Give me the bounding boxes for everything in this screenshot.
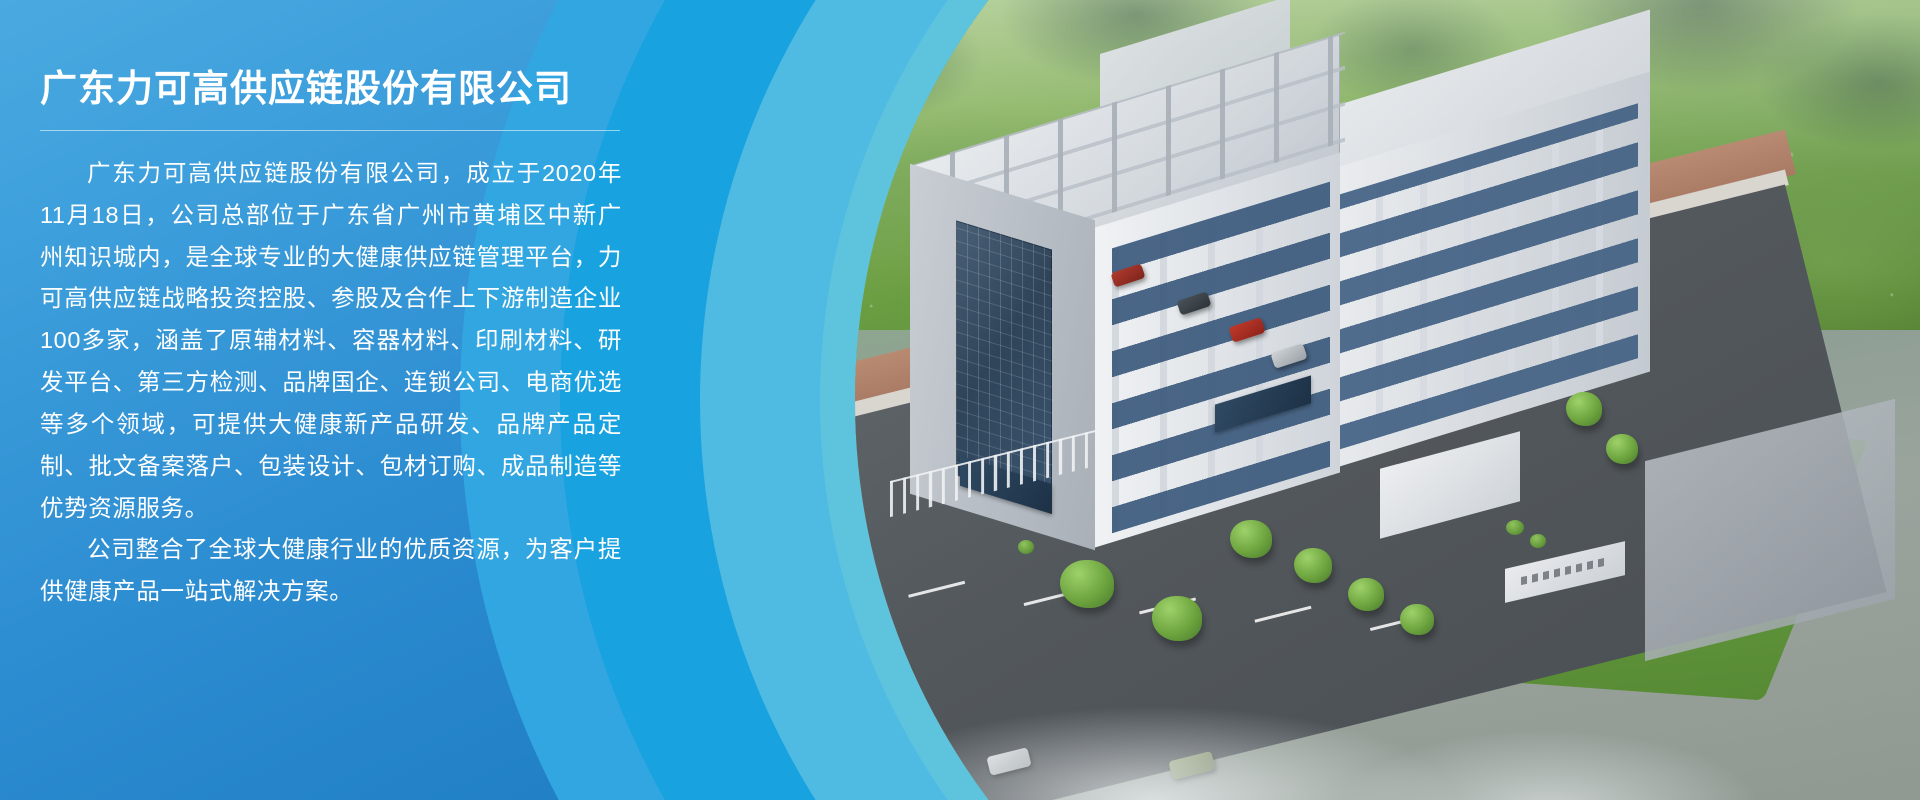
company-description: 广东力可高供应链股份有限公司，成立于2020年11月18日，公司总部位于广东省广… xyxy=(40,153,622,613)
page-title: 广东力可高供应链股份有限公司 xyxy=(40,58,680,130)
tree xyxy=(1294,548,1332,583)
tree xyxy=(1606,434,1638,464)
office-park-scene xyxy=(855,0,1920,800)
lane-marking xyxy=(908,581,965,598)
building-photo-circle xyxy=(855,0,1920,800)
tree xyxy=(1230,520,1272,558)
tree xyxy=(1060,560,1114,608)
ground-mist xyxy=(855,610,1920,800)
tree xyxy=(1348,578,1384,611)
shrub xyxy=(1018,540,1034,554)
tree xyxy=(1566,392,1602,426)
description-paragraph-2: 公司整合了全球大健康行业的优质资源，为客户提供健康产品一站式解决方案。 xyxy=(40,529,622,613)
shrub xyxy=(1530,534,1546,548)
company-intro-banner: 广东力可高供应链股份有限公司 广东力可高供应链股份有限公司，成立于2020年11… xyxy=(0,0,1920,800)
text-column: 广东力可高供应链股份有限公司 广东力可高供应链股份有限公司，成立于2020年11… xyxy=(0,0,680,800)
description-paragraph-1: 广东力可高供应链股份有限公司，成立于2020年11月18日，公司总部位于广东省广… xyxy=(40,153,622,529)
building-photo xyxy=(855,0,1920,800)
shrub xyxy=(1506,520,1524,535)
title-divider xyxy=(40,130,620,131)
